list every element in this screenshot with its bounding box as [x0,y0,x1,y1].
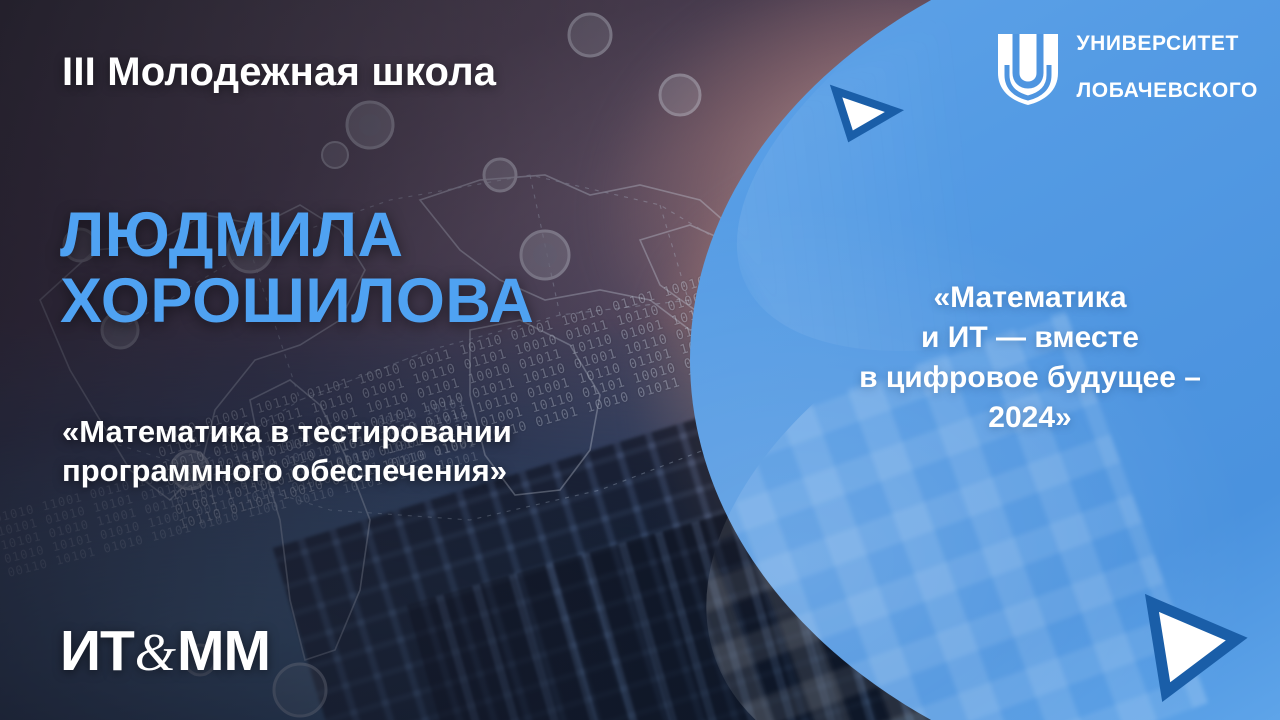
play-triangle-icon-bottom [1139,587,1250,704]
speaker-name-line-2: ХОРОШИЛОВА [60,269,534,335]
university-name-line-2: ЛОБАЧЕВСКОГО [1076,79,1258,103]
talk-title-line-1: «Математика в тестировании [62,412,512,451]
event-title-line-3: в цифровое будущее – [820,358,1240,398]
university-name: УНИВЕРСИТЕТ ЛОБАЧЕВСКОГО [1076,8,1258,126]
university-logo: УНИВЕРСИТЕТ ЛОБАЧЕВСКОГО [994,8,1258,126]
talk-title-line-2: программного обеспечения» [62,451,512,490]
event-title-line-2: и ИТ — вместе [820,318,1240,358]
speaker-name-line-1: ЛЮДМИЛА [60,203,534,269]
itmm-logo-right: ММ [177,618,270,684]
itmm-logo-ampersand: & [135,623,176,683]
itmm-logo-left: ИТ [60,618,134,684]
university-name-line-1: УНИВЕРСИТЕТ [1076,32,1258,56]
school-title: III Молодежная школа [62,50,496,95]
event-title-line-1: «Математика [820,278,1240,318]
event-title-line-4: 2024» [820,398,1240,438]
lobachevsky-shield-u-icon [994,29,1062,105]
play-triangle-icon-top [826,73,906,146]
speaker-name: ЛЮДМИЛА ХОРОШИЛОВА [60,203,534,334]
event-title: «Математика и ИТ — вместе в цифровое буд… [820,278,1240,438]
presentation-slide: 10110 01001 10110 01101 10010 01011 1011… [0,0,1280,720]
itmm-logo: ИТ & ММ [60,618,270,684]
talk-title: «Математика в тестировании программного … [62,412,512,490]
